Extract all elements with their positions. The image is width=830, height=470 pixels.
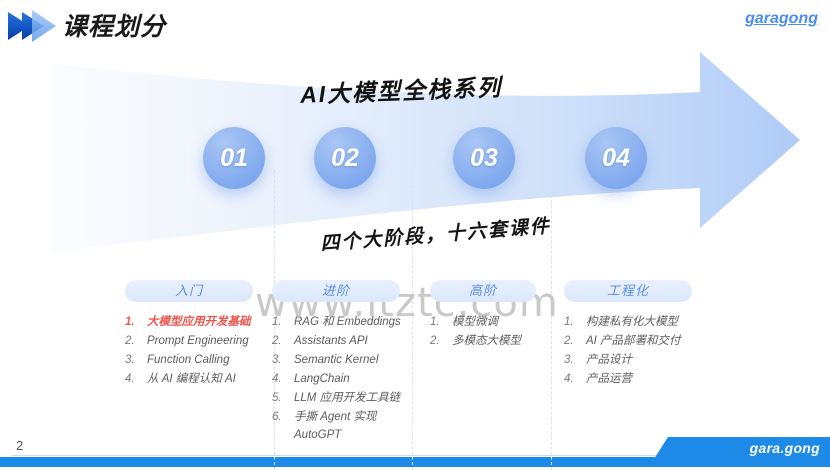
list-item[interactable]: 1.模型微调 [430,314,555,332]
list-item-label: Prompt Engineering [147,335,249,347]
list-item-number: 3. [125,352,135,370]
list-item-label: 手撕 Agent 实现 AutoGPT [294,411,376,441]
column-item-list: 1.模型微调2.多模态大模型 [430,314,555,351]
list-item[interactable]: 3.Semantic Kernel [272,352,420,370]
footer-brand-label: gara.gong [750,440,820,456]
list-item[interactable]: 3.Function Calling [125,352,275,370]
curriculum-columns: 入门 1.大模型应用开发基础2.Prompt Engineering3.Func… [0,280,830,440]
stage-circle-04[interactable]: 04 [585,127,647,189]
list-item[interactable]: 4.LangChain [272,371,420,389]
list-item-label: LangChain [294,373,350,385]
page-number: 2 [16,438,23,453]
stage-circle-03[interactable]: 03 [453,127,515,189]
column-label-pill[interactable]: 工程化 [564,280,692,302]
list-item[interactable]: 5.LLM 应用开发工具链 [272,390,420,408]
stage-circle-01[interactable]: 01 [203,127,265,189]
stage-circle-label: 01 [203,127,265,189]
curriculum-column-1: 进阶 1.RAG 和 Embeddings2.Assistants API3.S… [272,280,420,446]
list-item-label: 模型微调 [452,316,498,328]
list-item[interactable]: 3.产品设计 [564,352,724,370]
list-item-label: 大模型应用开发基础 [147,316,251,328]
list-item[interactable]: 1.RAG 和 Embeddings [272,314,420,332]
list-item[interactable]: 2.Assistants API [272,333,420,351]
column-label-pill[interactable]: 入门 [125,280,253,302]
curriculum-column-3: 工程化 1.构建私有化大模型2.AI 产品部署和交付3.产品设计4.产品运营 [564,280,724,390]
list-item[interactable]: 1.构建私有化大模型 [564,314,724,332]
stage-circle-label: 02 [314,127,376,189]
column-label-pill[interactable]: 高阶 [430,280,536,302]
list-item-number: 1. [430,314,440,332]
brand-logo: garagong [745,10,818,28]
list-item[interactable]: 6.手撕 Agent 实现 AutoGPT [272,409,420,444]
list-item-label: 构建私有化大模型 [586,316,678,328]
list-item-number: 2. [564,333,574,351]
list-item-number: 2. [125,333,135,351]
stage-circle-02[interactable]: 02 [314,127,376,189]
stage-arrow-banner: AI大模型全栈系列 www.itztc.com 四个大阶段，十六套课件 01 0… [0,52,830,292]
stage-circle-label: 03 [453,127,515,189]
column-item-list: 1.构建私有化大模型2.AI 产品部署和交付3.产品设计4.产品运营 [564,314,724,389]
list-item-number: 3. [564,352,574,370]
list-item-label: 产品设计 [586,354,632,366]
list-item-label: RAG 和 Embeddings [294,316,401,328]
list-item-number: 2. [272,333,282,351]
list-item[interactable]: 1.大模型应用开发基础 [125,314,275,332]
double-chevron-icon [6,8,58,44]
slide-header: 课程划分 garagong [0,0,830,52]
list-item-label: Function Calling [147,354,229,366]
list-item-label: AI 产品部署和交付 [586,335,681,347]
list-item-number: 1. [564,314,574,332]
footer-bar [0,457,830,467]
list-item-label: 从 AI 编程认知 AI [147,373,236,385]
column-item-list: 1.RAG 和 Embeddings2.Assistants API3.Sema… [272,314,420,444]
list-item-label: Assistants API [294,335,368,347]
list-item-number: 1. [125,314,135,332]
list-item-number: 5. [272,390,282,408]
list-item-number: 4. [564,371,574,389]
list-item-label: 产品运营 [586,373,632,385]
list-item-number: 4. [125,371,135,389]
curriculum-column-0: 入门 1.大模型应用开发基础2.Prompt Engineering3.Func… [125,280,275,390]
list-item[interactable]: 4.从 AI 编程认知 AI [125,371,275,389]
list-item-number: 2. [430,333,440,351]
stage-circle-label: 04 [585,127,647,189]
list-item[interactable]: 2.多模态大模型 [430,333,555,351]
column-item-list: 1.大模型应用开发基础2.Prompt Engineering3.Functio… [125,314,275,389]
curriculum-column-2: 高阶 1.模型微调2.多模态大模型 [430,280,555,352]
list-item-number: 4. [272,371,282,389]
list-item-number: 6. [272,409,282,427]
list-item-label: LLM 应用开发工具链 [294,392,400,404]
list-item-number: 3. [272,352,282,370]
list-item[interactable]: 2.Prompt Engineering [125,333,275,351]
list-item-label: 多模态大模型 [452,335,521,347]
list-item-label: Semantic Kernel [294,354,378,366]
list-item-number: 1. [272,314,282,332]
list-item[interactable]: 2.AI 产品部署和交付 [564,333,724,351]
list-item[interactable]: 4.产品运营 [564,371,724,389]
page-title: 课程划分 [62,7,166,43]
column-label-pill[interactable]: 进阶 [272,280,400,302]
